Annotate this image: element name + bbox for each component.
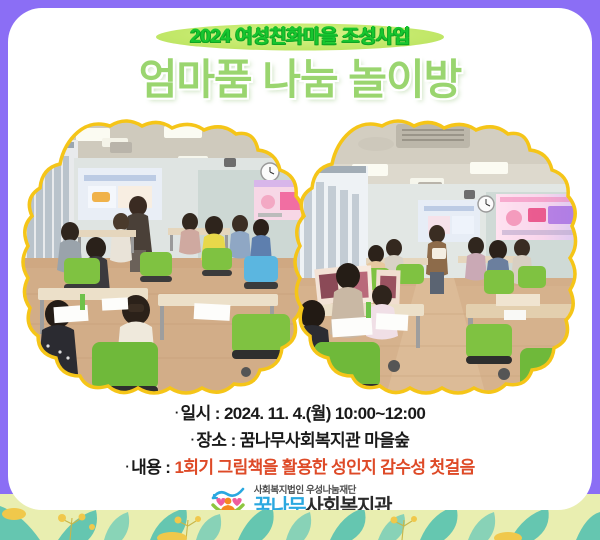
classroom-photo-left xyxy=(18,118,310,396)
logo-name-black: 사회복지관 xyxy=(305,496,391,510)
bullet-icon: · xyxy=(125,459,129,474)
detail-label-date: 일시 xyxy=(181,404,211,423)
detail-label-place: 장소 xyxy=(196,431,226,450)
detail-value-content: 1회기 그림책을 활용한 성인지 감수성 첫걸음 xyxy=(174,458,474,477)
poster-card: 2024 여성친화마을 조성사업 엄마품 나눔 놀이방 xyxy=(8,8,592,510)
detail-label-content: 내용 xyxy=(131,458,161,477)
bullet-icon: · xyxy=(175,405,179,420)
bullet-icon: · xyxy=(191,432,195,447)
detail-row-content: ·내용 : 1회기 그림책을 활용한 성인지 감수성 첫걸음 xyxy=(8,454,592,481)
photo-collage xyxy=(18,118,582,396)
title-block: 2024 여성친화마을 조성사업 엄마품 나눔 놀이방 xyxy=(8,22,592,106)
subtitle-text: 2024 여성친화마을 조성사업 xyxy=(190,22,410,52)
dreamtree-logo-icon xyxy=(209,485,247,510)
detail-sep: : xyxy=(226,431,239,450)
logo-name-blue: 꿈나무 xyxy=(254,496,306,510)
detail-value-place: 꿈나무사회복지관 마을숲 xyxy=(240,431,410,450)
detail-sep: : xyxy=(161,458,174,477)
logo-name-line: 꿈나무사회복지관 xyxy=(254,497,392,510)
classroom-photo-right xyxy=(290,118,582,396)
subtitle-badge: 2024 여성친화마을 조성사업 xyxy=(156,22,444,52)
poster-root: 2024 여성친화마을 조성사업 엄마품 나눔 놀이방 xyxy=(0,0,600,540)
logo-org-line: 사회복지법인 우성나눔재단 xyxy=(254,486,392,496)
event-details: ·일시 : 2024. 11. 4.(월) 10:00~12:00 ·장소 : … xyxy=(8,400,592,481)
logo-wordmark: 사회복지법인 우성나눔재단 꿈나무사회복지관 xyxy=(254,486,392,510)
footer-logo: 사회복지법인 우성나눔재단 꿈나무사회복지관 xyxy=(8,485,592,510)
detail-value-date: 2024. 11. 4.(월) 10:00~12:00 xyxy=(224,404,425,423)
page-title: 엄마품 나눔 놀이방 xyxy=(8,54,592,106)
detail-row-date: ·일시 : 2024. 11. 4.(월) 10:00~12:00 xyxy=(8,400,592,427)
detail-row-place: ·장소 : 꿈나무사회복지관 마을숲 xyxy=(8,427,592,454)
detail-sep: : xyxy=(211,404,224,423)
